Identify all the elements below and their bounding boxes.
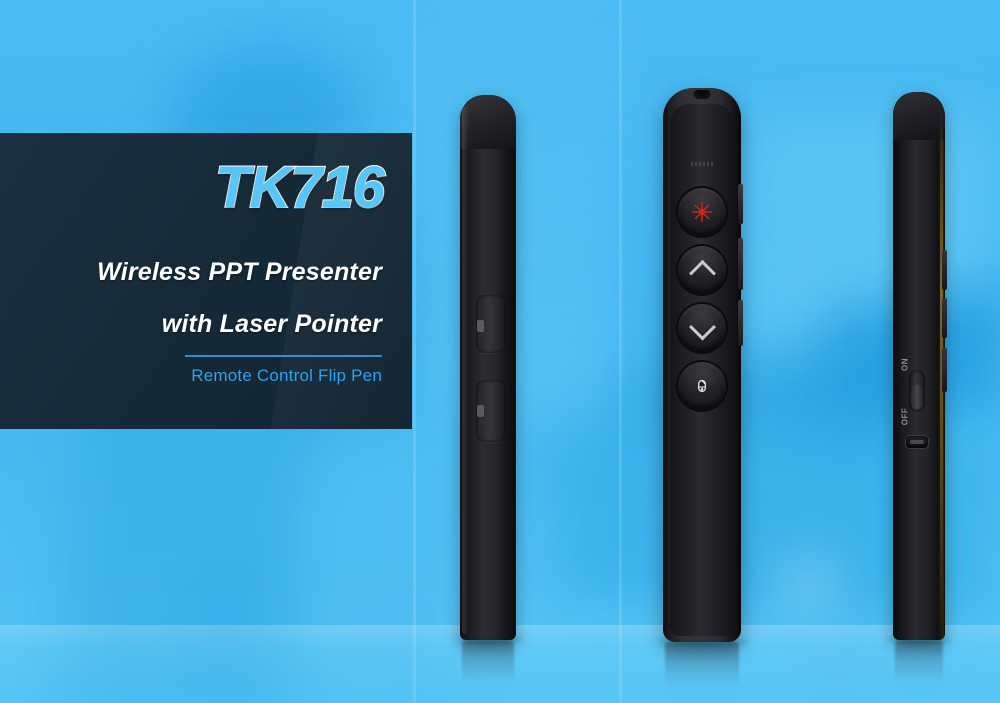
panel-content: TK716 Wireless PPT Presenter with Laser … [0,133,412,429]
mouse-pointer-icon [692,376,712,396]
power-switch-off-label: OFF [901,406,910,428]
center-device-side-button-3 [738,300,743,346]
page-up-button [678,246,726,294]
headline-line-1: Wireless PPT Presenter [10,246,382,298]
left-device-lower-button-icon [477,405,484,417]
left-device-edge-highlight [462,101,469,634]
power-switch [909,370,925,412]
product-model-title: TK716 [215,159,384,217]
headline-line-2: with Laser Pointer [10,298,382,350]
right-device-side-button-3 [942,348,947,392]
product-device-left-side-view [460,95,516,640]
background-seam-right [619,0,622,703]
page-down-button [678,304,726,352]
center-device-side-button-2 [738,238,743,290]
product-headline: Wireless PPT Presenter with Laser Pointe… [10,246,382,350]
power-switch-knob [911,385,923,409]
right-device-top-cap [893,92,945,140]
left-device-upper-button-icon [477,320,484,332]
background-seam-left [413,0,416,703]
chevron-down-icon [689,313,716,340]
product-device-right-side-view: ON OFF [893,92,945,640]
right-device-side-button-1 [942,250,947,290]
laser-starburst-icon [691,201,713,223]
headline-panel: TK716 Wireless PPT Presenter with Laser … [0,133,412,429]
micro-usb-port-icon [906,436,928,448]
center-device-side-button-1 [738,184,743,224]
reflection-right-device [895,640,943,696]
reflection-center-device [665,642,739,700]
center-device-brand-label [691,162,713,166]
laser-button [678,188,726,236]
laser-emitter-hole-icon [694,90,711,99]
product-banner: TK716 Wireless PPT Presenter with Laser … [0,0,1000,703]
headline-divider [185,355,382,357]
right-device-side-button-2 [942,298,947,338]
power-switch-on-label: ON [901,355,910,375]
reflection-left-device [462,640,514,696]
screen-blank-button [678,362,726,410]
product-device-front-view [663,88,741,642]
chevron-up-icon [689,259,716,286]
product-tagline: Remote Control Flip Pen [191,366,382,386]
